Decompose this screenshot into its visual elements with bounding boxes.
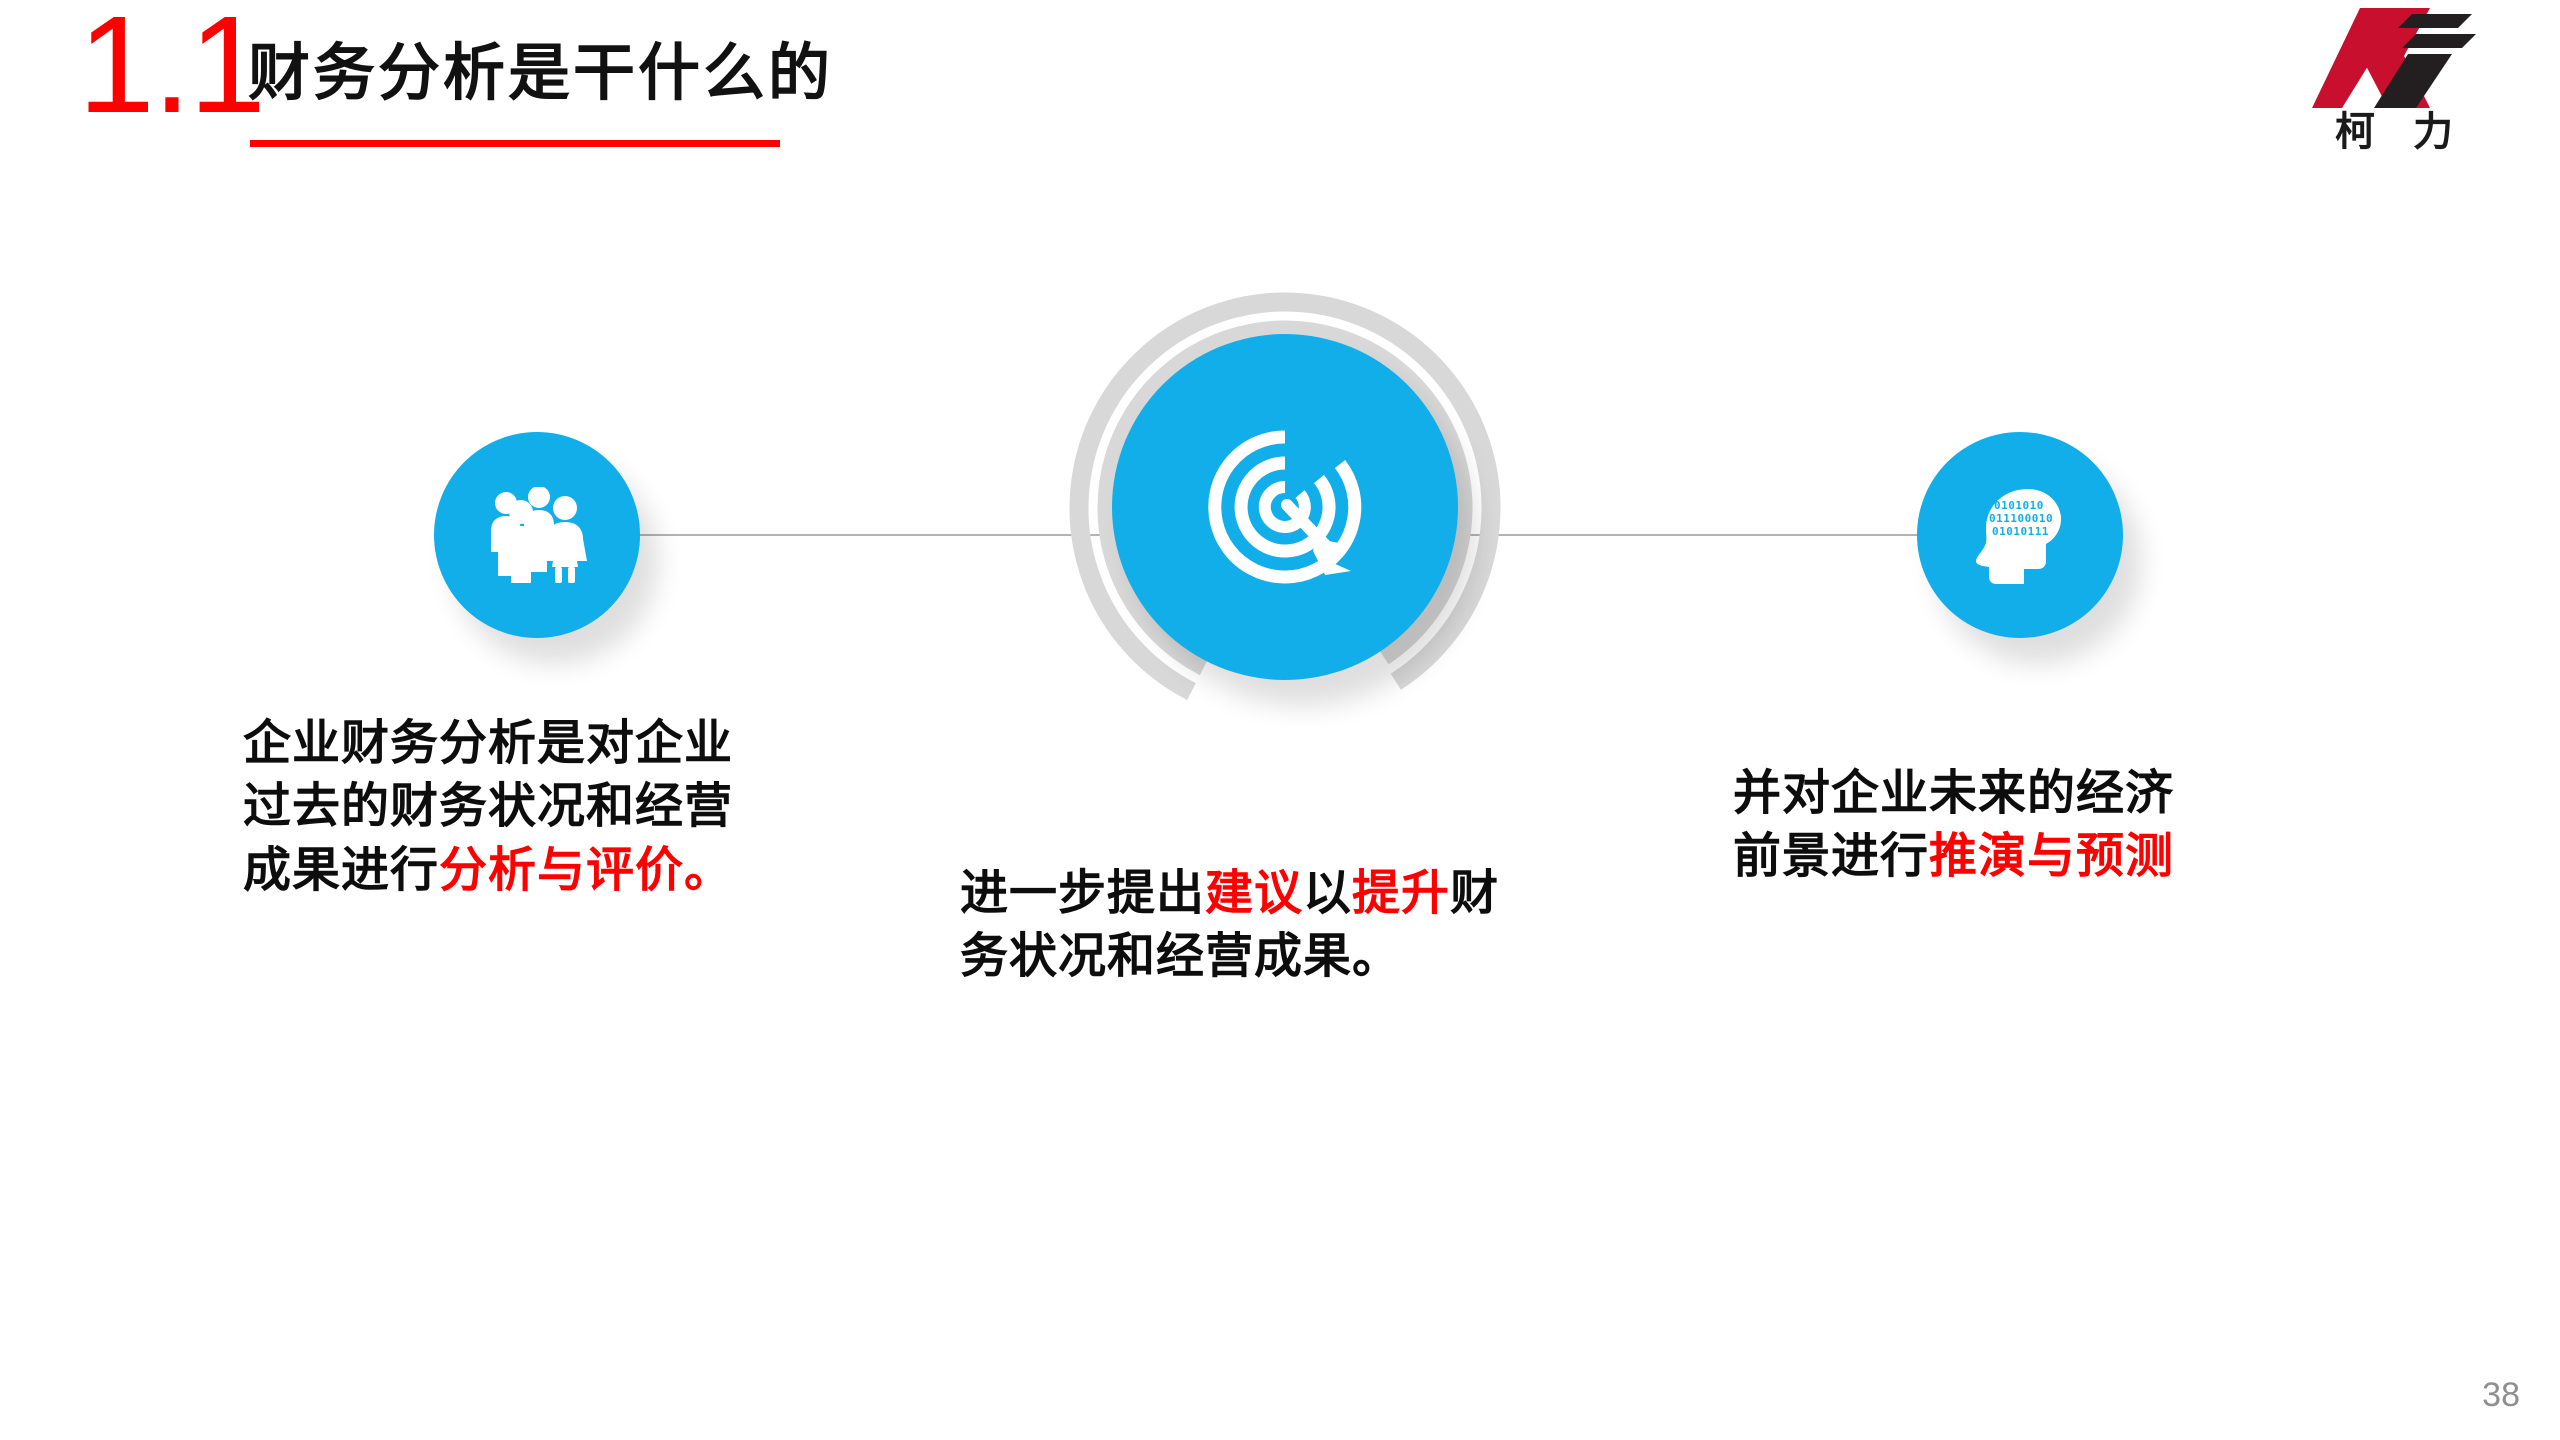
paragraph-line: 成果进行分析与评价。 [243, 839, 823, 902]
body-text: 前景进行 [1733, 828, 1929, 884]
body-text: 进一步提出 [960, 865, 1205, 921]
paragraph-line: 务状况和经营成果。 [960, 925, 1600, 988]
slide-canvas: 1.1 财务分析是干什么的 柯 力 [0, 0, 2560, 1440]
svg-text:011100010: 011100010 [1989, 512, 2053, 525]
body-text: 财 [1450, 865, 1499, 921]
logo-wordmark: 柯 力 [2316, 112, 2484, 152]
node-target[interactable] [1112, 334, 1458, 680]
body-text: 过去的财务状况和经营 [243, 778, 733, 834]
node-brain[interactable]: 0101010 011100010 01010111 [1917, 432, 2123, 638]
highlight-text: 推演与预测 [1929, 828, 2174, 884]
body-text: 成果进行 [243, 842, 439, 898]
process-diagram: 0101010 011100010 01010111 [0, 300, 2560, 760]
target-arrow-icon [1201, 423, 1369, 591]
paragraph-left: 企业财务分析是对企业过去的财务状况和经营成果进行分析与评价。 [243, 712, 823, 902]
paragraph-line: 前景进行推演与预测 [1733, 825, 2353, 888]
svg-text:0101010: 0101010 [1994, 499, 2044, 512]
node-people[interactable] [434, 432, 640, 638]
highlight-text: 提升 [1352, 865, 1450, 921]
highlight-text: 分析与评价。 [439, 842, 733, 898]
title-underline [250, 140, 780, 147]
highlight-text: 建议 [1205, 865, 1303, 921]
body-text: 企业财务分析是对企业 [243, 715, 733, 771]
head-binary-brain-icon: 0101010 011100010 01010111 [1968, 485, 2072, 585]
paragraph-center: 进一步提出建议以提升财务状况和经营成果。 [960, 862, 1600, 989]
company-logo: 柯 力 [2312, 8, 2502, 176]
paragraph-right: 并对企业未来的经济前景进行推演与预测 [1733, 762, 2353, 889]
body-text: 并对企业未来的经济 [1733, 765, 2174, 821]
section-number: 1.1 [78, 0, 264, 134]
slide-header: 1.1 财务分析是干什么的 柯 力 [0, 0, 2560, 200]
paragraph-line: 企业财务分析是对企业 [243, 712, 823, 775]
paragraph-line: 并对企业未来的经济 [1733, 762, 2353, 825]
people-group-icon [485, 487, 589, 583]
keli-k-logo-icon [2312, 8, 2502, 112]
paragraph-line: 进一步提出建议以提升财 [960, 862, 1600, 925]
page-number: 38 [2482, 1378, 2520, 1412]
body-text: 务状况和经营成果。 [960, 928, 1401, 984]
page-title: 财务分析是干什么的 [248, 42, 833, 104]
paragraph-line: 过去的财务状况和经营 [243, 775, 823, 838]
svg-text:01010111: 01010111 [1992, 525, 2049, 538]
body-text: 以 [1303, 865, 1352, 921]
